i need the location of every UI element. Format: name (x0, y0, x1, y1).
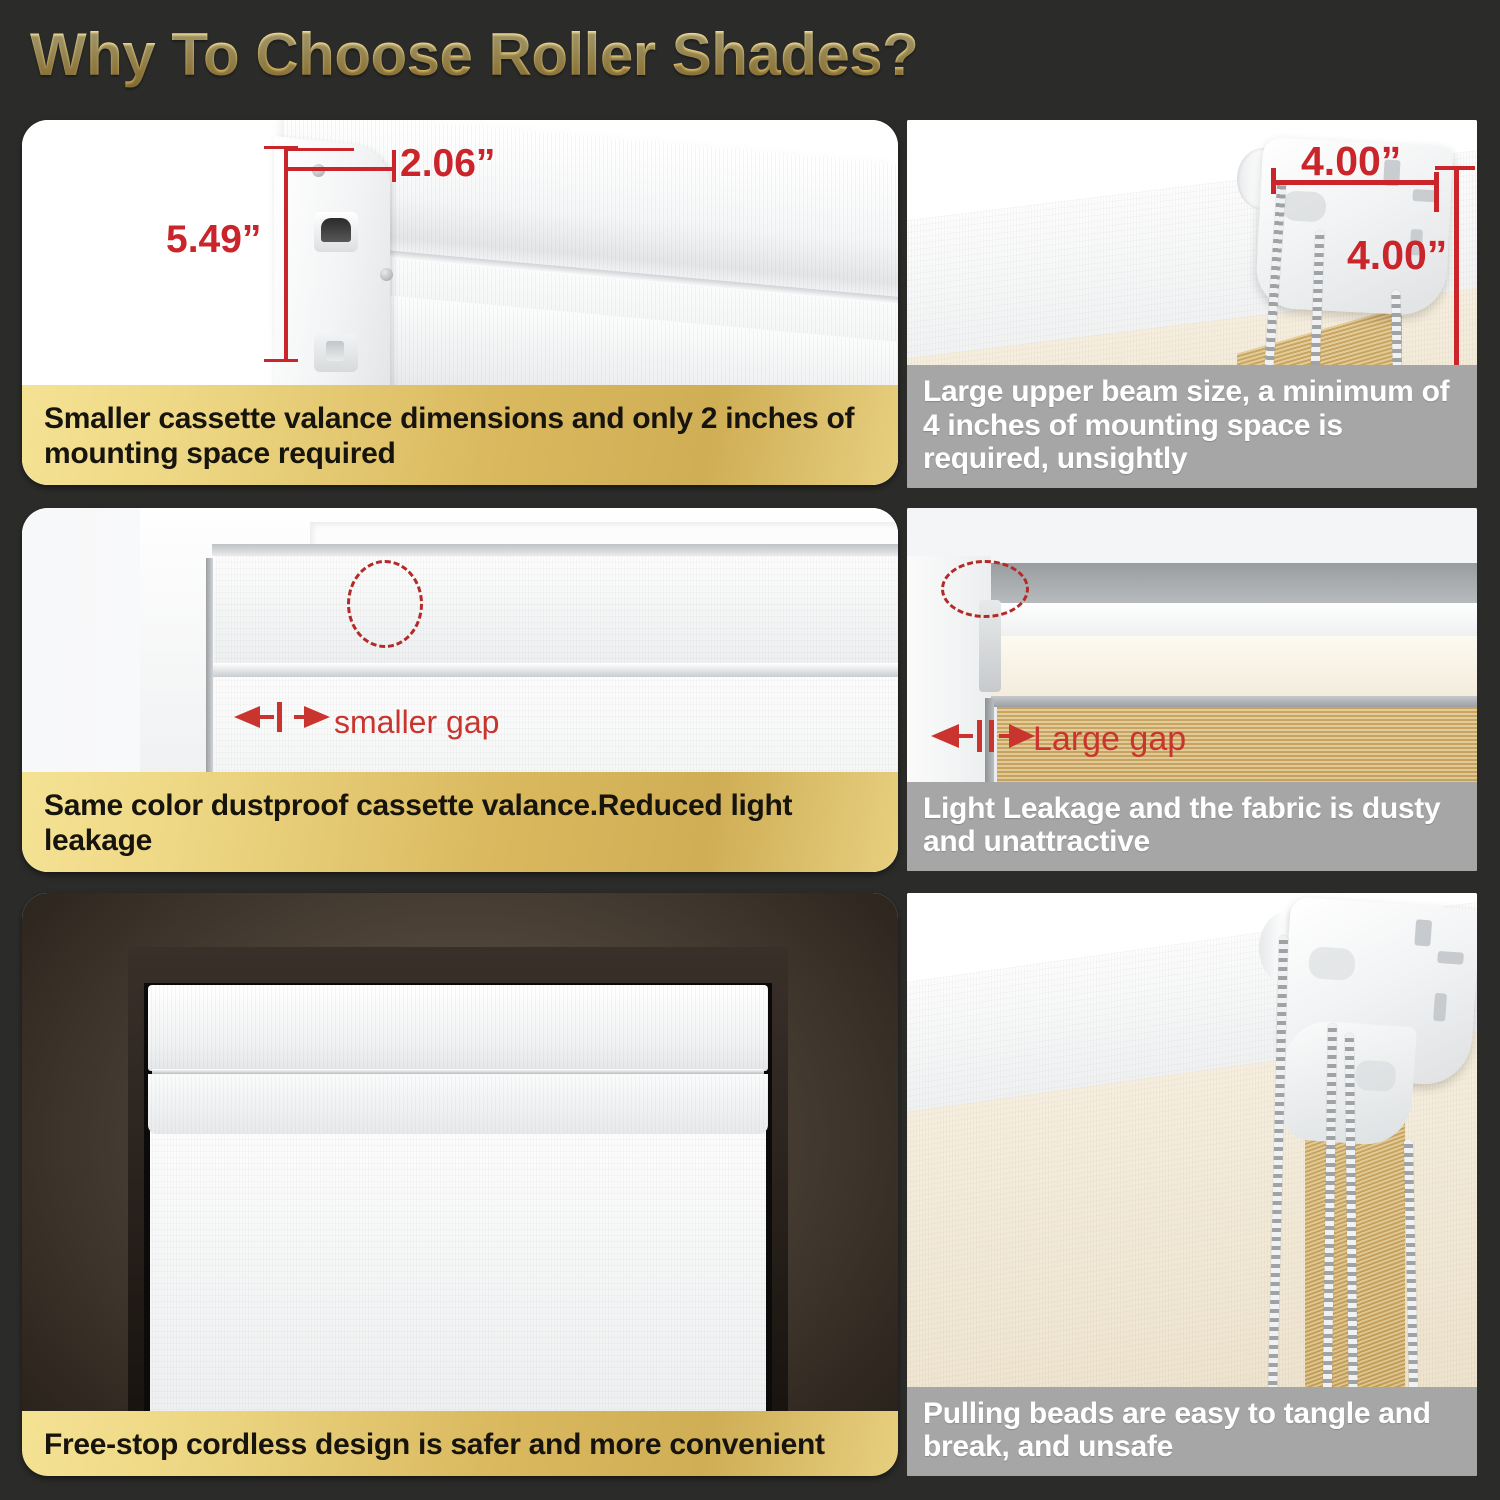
comparison-grid: 2.06” 5.49” Smaller cassette valance dim… (0, 0, 1500, 1500)
panel-dustproof-cassette: smaller gap Same color dustproof cassett… (22, 508, 898, 872)
panel-5-photo (22, 893, 898, 1476)
panel-1-caption: Smaller cassette valance dimensions and … (22, 385, 898, 485)
screw-icon (380, 268, 393, 281)
gap-label: smaller gap (334, 704, 499, 741)
dim-width-tick-left (1271, 168, 1276, 194)
beam-bottom-edge (989, 696, 1477, 707)
panel-3-caption: Same color dustproof cassette valance.Re… (22, 772, 898, 872)
beam-shadow (989, 563, 1477, 605)
dim-width-label: 4.00” (1301, 138, 1401, 185)
cassette-slot-upper (314, 212, 358, 252)
cassette-headrail (148, 985, 768, 1071)
dim-height-tick-top (1435, 166, 1475, 170)
dim-width-tick-right (392, 150, 396, 182)
highlight-circle (347, 560, 423, 648)
cassette-valance-top (212, 544, 898, 556)
shade-fabric (150, 1131, 766, 1421)
dim-height-line (1454, 168, 1459, 368)
dim-height-label: 4.00” (1347, 232, 1447, 279)
panel-5-caption: Free-stop cordless design is safer and m… (22, 1411, 898, 1476)
dim-height-tick-bottom (264, 359, 298, 362)
valance-body (148, 1074, 768, 1134)
cassette-slot-lower (314, 334, 358, 372)
dim-height-tick-top (264, 146, 298, 149)
panel-smaller-cassette: 2.06” 5.49” Smaller cassette valance dim… (22, 120, 898, 485)
panel-2-caption: Large upper beam size, a minimum of 4 in… (907, 365, 1477, 488)
valance-rail (212, 663, 898, 677)
panel-light-leakage: Large gap Light Leakage and the fabric i… (907, 508, 1477, 871)
dim-width-line (284, 167, 396, 171)
dim-height-label: 5.49” (166, 218, 261, 262)
panel-6-caption: Pulling beads are easy to tangle and bre… (907, 1387, 1477, 1476)
panel-4-caption: Light Leakage and the fabric is dusty an… (907, 782, 1477, 871)
dim-width-tick-right (1434, 172, 1439, 212)
dim-width-label: 2.06” (400, 142, 495, 186)
panel-large-upper-beam: 4.00” 4.00” Large upper beam size, a min… (907, 120, 1477, 488)
highlight-circle (941, 560, 1029, 618)
gap-arrows-icon (234, 700, 334, 734)
gap-arrows-icon (931, 718, 1039, 754)
panel-pulling-beads: Pulling beads are easy to tangle and bre… (907, 893, 1477, 1476)
dim-height-line (284, 148, 288, 362)
upper-beam-face (989, 636, 1477, 698)
gap-label: Large gap (1033, 720, 1186, 759)
shade-fabric-upper (214, 556, 898, 664)
panel-cordless-design: Free-stop cordless design is safer and m… (22, 893, 898, 1476)
cassette-end-cap (274, 136, 390, 418)
